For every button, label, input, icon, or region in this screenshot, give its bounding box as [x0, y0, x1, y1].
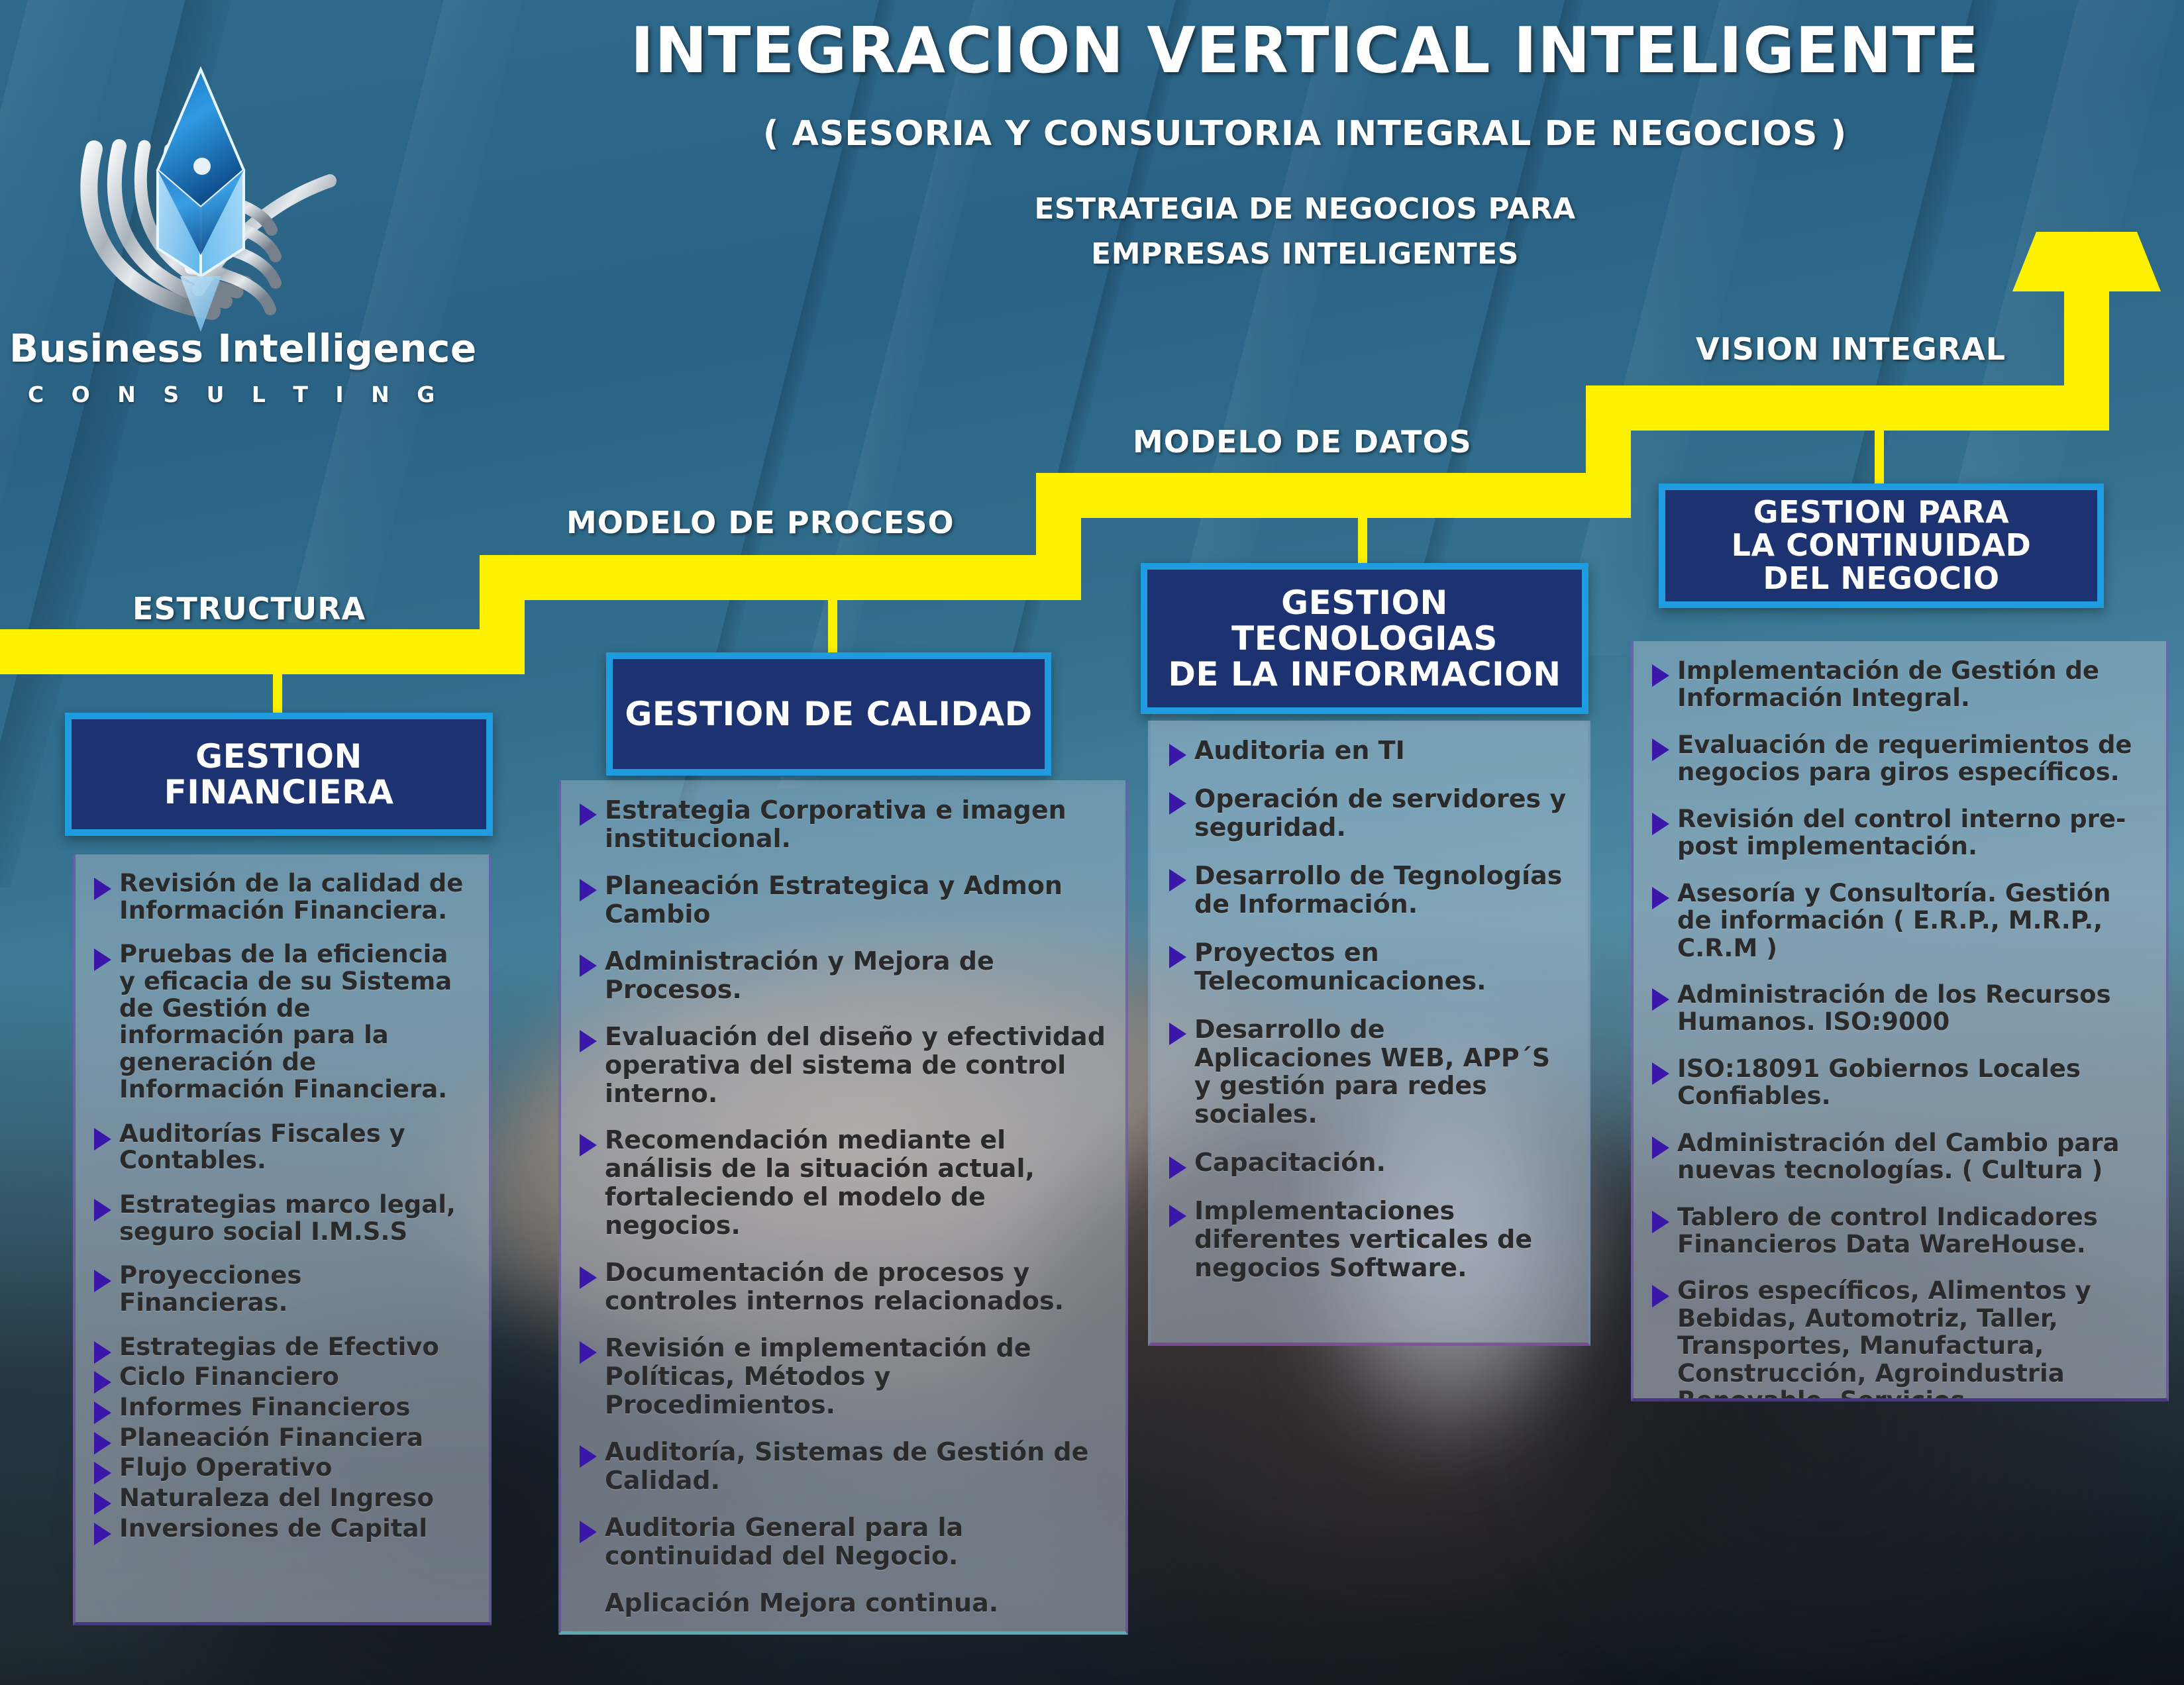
bullet-text: Operación de servidores y seguridad. [1194, 784, 1566, 842]
bullet-item: Evaluación del diseño y efectividad oper… [576, 1023, 1108, 1108]
bullet-text: Recomendación mediante el análisis de la… [605, 1125, 1035, 1240]
bullet-triangle-icon [1652, 664, 1669, 687]
poster-canvas: Business Intelligence C O N S U L T I N … [0, 0, 2184, 1685]
tagline-line-2: EMPRESAS INTELIGENTES [543, 237, 2067, 271]
category-box-gestion-para-la-continuidad-del-negocio[interactable]: GESTION PARA LA CONTINUIDAD DEL NEGOCIO [1659, 484, 2104, 608]
bullet-text: Naturaleza del Ingreso [119, 1484, 434, 1512]
bullet-item: Planeación Estrategica y Admon Cambio [576, 872, 1108, 929]
bullet-triangle-icon [94, 1341, 111, 1364]
bullet-item: Estrategias de Efectivo [90, 1334, 472, 1361]
bullet-triangle-icon [1652, 1211, 1669, 1233]
bullet-item: Giros específicos, Alimentos y Bebidas, … [1648, 1277, 2149, 1402]
bullet-triangle-icon [94, 878, 111, 900]
bullet-triangle-icon [94, 1270, 111, 1292]
category-title-line-1: GESTION DE CALIDAD [625, 695, 1032, 733]
bullet-text: Planeación Estrategica y Admon Cambio [605, 871, 1063, 929]
bullet-text: Estrategias de Efectivo [119, 1333, 439, 1361]
bullet-triangle-icon [1652, 887, 1669, 909]
bullet-text: Proyecciones Financieras. [119, 1261, 301, 1317]
bullet-triangle-icon [94, 1199, 111, 1221]
bullet-list: Implementación de Gestión de Información… [1648, 657, 2149, 1402]
brand-name: Business Intelligence [9, 326, 354, 371]
bullet-triangle-icon [1169, 946, 1186, 968]
bullet-item: Recomendación mediante el análisis de la… [576, 1126, 1108, 1240]
category-box-gestion-financiera[interactable]: GESTION FINANCIERA [65, 713, 493, 836]
bullet-triangle-icon [580, 1134, 597, 1156]
bullet-item: Administración de los Recursos Humanos. … [1648, 981, 2149, 1036]
bullet-item: Revisión e implementación de Políticas, … [576, 1334, 1108, 1419]
brand-subtitle: C O N S U L T I N G [28, 382, 372, 407]
bullet-text: Inversiones de Capital [119, 1514, 427, 1543]
category-box-gestion-tecnologias-de-la-informacion[interactable]: GESTION TECNOLOGIAS DE LA INFORMACION [1141, 563, 1588, 714]
bullet-text: Asesoría y Consultoría. Gestión de infor… [1677, 879, 2111, 962]
bullet-triangle-icon [1169, 1156, 1186, 1179]
bullet-item: Revisión del control interno pre-post im… [1648, 805, 2149, 860]
bullet-item: Auditorías Fiscales y Contables. [90, 1121, 472, 1174]
bullet-item: Implementaciones diferentes verticales d… [1165, 1197, 1571, 1282]
category-title-line-1: GESTION PARA [1753, 494, 2010, 530]
bullet-triangle-icon [94, 1492, 111, 1515]
bullet-item: Auditoria en TI [1165, 737, 1571, 765]
bullet-triangle-icon [1652, 1285, 1669, 1307]
bullet-item: Operación de servidores y seguridad. [1165, 785, 1571, 842]
bullet-text: Auditoria General para la continuidad de… [605, 1513, 963, 1570]
bullet-item: ISO:18091 Gobiernos Locales Confiables. [1648, 1055, 2149, 1110]
bullet-triangle-icon [580, 1266, 597, 1289]
bullet-triangle-icon [1169, 1205, 1186, 1227]
bullet-triangle-icon [1169, 792, 1186, 815]
crystal-prism-logo-icon [13, 30, 358, 374]
bullet-item: Evaluación de requerimientos de negocios… [1648, 731, 2149, 786]
bullet-triangle-icon [580, 1521, 597, 1543]
bullet-text: Giros específicos, Alimentos y Bebidas, … [1677, 1276, 2091, 1402]
bullet-text: Desarrollo de Aplicaciones WEB, APP´S y … [1194, 1015, 1550, 1129]
bullet-triangle-icon [1652, 988, 1669, 1011]
bullet-triangle-icon [94, 1402, 111, 1424]
bullet-panel-gestion-de-calidad: Estrategia Corporativa e imagen instituc… [558, 780, 1128, 1635]
category-title-line-1: GESTION [195, 737, 362, 776]
bullet-item: Estrategia Corporativa e imagen instituc… [576, 796, 1108, 853]
bullet-text: Auditoria en TI [1194, 736, 1405, 765]
category-title-line-3: DEL NEGOCIO [1763, 560, 1999, 596]
bullet-list: Estrategia Corporativa e imagen instituc… [576, 796, 1108, 1635]
bullet-triangle-icon [94, 948, 111, 971]
bullet-item: Proyectos en Telecomunicaciones. [1165, 939, 1571, 996]
bullet-item: Planeación Financiera [90, 1425, 472, 1452]
bullet-panel-gestion-tecnologias-de-la-informacion: Auditoria en TIOperación de servidores y… [1148, 721, 1590, 1346]
bullet-item: Informes Financieros [90, 1394, 472, 1421]
bullet-item: Proyecciones Financieras. [90, 1262, 472, 1316]
step-label-modelo-de-datos: MODELO DE DATOS [1133, 424, 1472, 460]
bullet-text: Revisión e implementación de Políticas, … [605, 1333, 1031, 1419]
bullet-text: Flujo Operativo [119, 1453, 332, 1482]
bullet-text: Desarrollo de Tegnologías de Información… [1194, 861, 1562, 919]
bullet-item: Estrategias marco legal, seguro social I… [90, 1192, 472, 1245]
bullet-item: Ciclo Financiero [90, 1364, 472, 1391]
bullet-item: Aplicación Mejora continua. [576, 1589, 1108, 1617]
bullet-triangle-icon [94, 1523, 111, 1545]
bullet-text: Administración de los Recursos Humanos. … [1677, 980, 2111, 1036]
bullet-item: Administración y Mejora de Procesos. [576, 947, 1108, 1004]
step-label-estructura: ESTRUCTURA [132, 591, 366, 627]
bullet-item: Naturaleza del Ingreso [90, 1485, 472, 1512]
bullet-triangle-icon [580, 803, 597, 826]
bullet-text: Administración y Mejora de Procesos. [605, 946, 994, 1004]
bullet-text: Auditorías Fiscales y Contables. [119, 1119, 405, 1175]
bullet-triangle-icon [580, 954, 597, 977]
bullet-triangle-icon [1169, 869, 1186, 892]
bullet-item: Implementación de Gestión de Información… [1648, 657, 2149, 712]
step-label-vision-integral: VISION INTEGRAL [1696, 331, 2006, 367]
tagline-line-1: ESTRATEGIA DE NEGOCIOS PARA [543, 192, 2067, 226]
bullet-triangle-icon [1652, 1062, 1669, 1085]
bullet-triangle-icon [1652, 1137, 1669, 1159]
bullet-text: Revisión del control interno pre-post im… [1677, 805, 2126, 860]
bullet-item: Auditoría, Sistemas de Gestión de Calida… [576, 1438, 1108, 1495]
bullet-text: Auditoría, Sistemas de Gestión de Calida… [605, 1437, 1088, 1495]
bullet-item: Pruebas de la eficiencia y eficacia de s… [90, 941, 472, 1103]
category-title-line-3: DE LA INFORMACION [1168, 655, 1561, 693]
bullet-text: Informes Financieros [119, 1393, 410, 1421]
bullet-triangle-icon [94, 1432, 111, 1455]
company-logo [13, 30, 358, 374]
bullet-text: Documentación de procesos y controles in… [605, 1258, 1064, 1315]
bullet-text: Proyectos en Telecomunicaciones. [1194, 938, 1486, 996]
page-title: INTEGRACION VERTICAL INTELIGENTE [543, 15, 2067, 87]
category-title-line-1: GESTION [1281, 584, 1448, 622]
bullet-triangle-icon [1169, 744, 1186, 766]
category-title-line-2: LA CONTINUIDAD [1732, 527, 2032, 563]
category-title-line-2: FINANCIERA [164, 773, 394, 811]
bullet-triangle-icon [580, 1030, 597, 1052]
bullet-text: Planeación Financiera [119, 1423, 423, 1452]
bullet-triangle-icon [1169, 1023, 1186, 1045]
bullet-text: Evaluación de requerimientos de negocios… [1677, 731, 2132, 786]
bullet-item: Documentación de procesos y controles in… [576, 1258, 1108, 1315]
bullet-triangle-icon [580, 1341, 597, 1364]
bullet-item: Auditoria General para la continuidad de… [576, 1513, 1108, 1570]
bullet-triangle-icon [580, 879, 597, 901]
bullet-text: Implementaciones diferentes verticales d… [1194, 1196, 1532, 1282]
bullet-text: ISO:18091 Gobiernos Locales Confiables. [1677, 1054, 2081, 1110]
bullet-item: Desarrollo de Aplicaciones WEB, APP´S y … [1165, 1015, 1571, 1129]
bullet-item: Desarrollo de Tegnologías de Información… [1165, 862, 1571, 919]
bullet-triangle-icon [94, 1371, 111, 1394]
bullet-text: Aplicación Mejora continua. [605, 1588, 998, 1617]
bullet-text: Capacitación. [1194, 1148, 1386, 1177]
bullet-item: Flujo Operativo [90, 1455, 472, 1482]
step-label-modelo-de-proceso: MODELO DE PROCESO [566, 505, 955, 540]
bullet-list: Revisión de la calidad de Información Fi… [90, 870, 472, 1542]
bullet-text: Evaluación del diseño y efectividad oper… [605, 1022, 1106, 1108]
category-box-gestion-de-calidad[interactable]: GESTION DE CALIDAD [606, 652, 1051, 776]
bullet-item: Capacitación. [1165, 1149, 1571, 1177]
bullet-item: Tablero de control Indicadores Financier… [1648, 1203, 2149, 1258]
bullet-text: Implementación de Gestión de Información… [1677, 656, 2099, 712]
bullet-list: Auditoria en TIOperación de servidores y… [1165, 737, 1571, 1282]
bullet-text: Revisión de la calidad de Información Fi… [119, 869, 463, 925]
bullet-text: Estrategia Corporativa e imagen instituc… [605, 795, 1066, 853]
bullet-triangle-icon [1652, 813, 1669, 835]
bullet-triangle-icon [580, 1445, 597, 1468]
page-subtitle: ( ASESORIA Y CONSULTORIA INTEGRAL DE NEG… [543, 114, 2067, 154]
bullet-item: Administración del Cambio para nuevas te… [1648, 1129, 2149, 1184]
bullet-text: Ciclo Financiero [119, 1362, 339, 1391]
bullet-text: Pruebas de la eficiencia y eficacia de s… [119, 940, 452, 1103]
bullet-item: Inversiones de Capital [90, 1515, 472, 1543]
bullet-item: Asesoría y Consultoría. Gestión de infor… [1648, 880, 2149, 962]
bullet-triangle-icon [94, 1462, 111, 1484]
bullet-triangle-icon [1652, 739, 1669, 761]
category-title-line-2: TECNOLOGIAS [1231, 619, 1498, 658]
bullet-panel-gestion-para-la-continuidad-del-negocio: Implementación de Gestión de Información… [1631, 641, 2169, 1402]
bullet-triangle-icon [94, 1128, 111, 1150]
bullet-item: Revisión de la calidad de Información Fi… [90, 870, 472, 924]
bullet-text: Administración del Cambio para nuevas te… [1677, 1129, 2120, 1184]
bullet-text: Tablero de control Indicadores Financier… [1677, 1203, 2098, 1258]
bullet-text: Estrategias marco legal, seguro social I… [119, 1190, 456, 1246]
bullet-panel-gestion-financiera: Revisión de la calidad de Información Fi… [73, 854, 492, 1625]
